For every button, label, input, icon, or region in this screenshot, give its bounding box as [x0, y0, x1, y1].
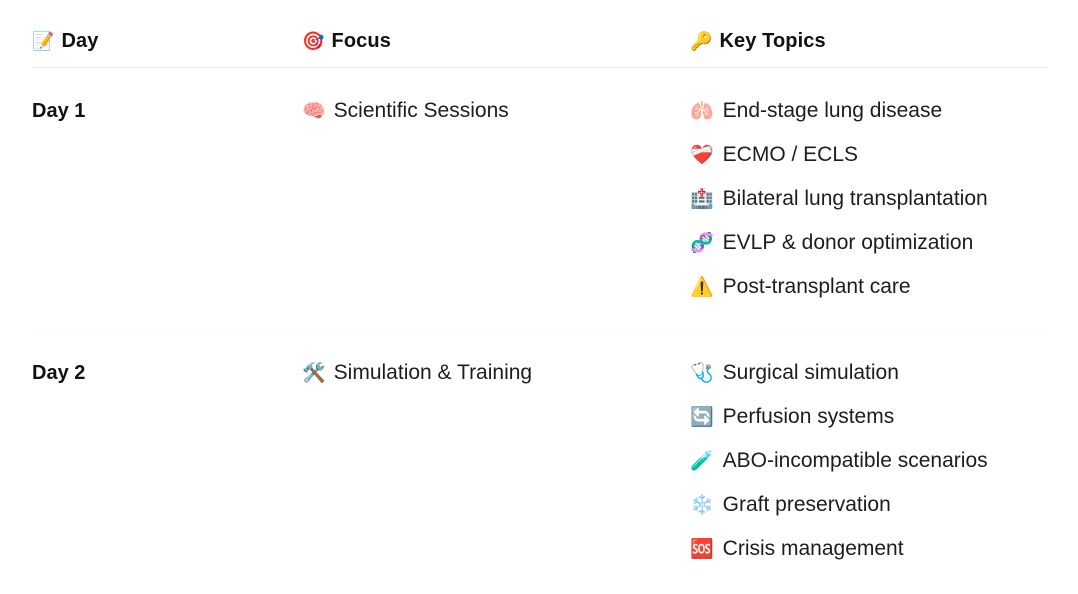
table-grid: 📝 Day 🎯 Focus 🔑 Key Topics Day 1 🧠 Scien…: [32, 0, 1048, 591]
column-header-key-topics-label: Key Topics: [720, 30, 826, 53]
topic-label: ABO-incompatible scenarios: [723, 447, 988, 475]
list-item: ❄️ Graft preservation: [690, 491, 1048, 519]
mending-heart-icon: ❤️‍🩹: [690, 141, 714, 169]
focus-label: Scientific Sessions: [334, 97, 509, 125]
memo-icon: 📝: [32, 31, 55, 53]
sos-button-icon: 🆘: [690, 535, 714, 563]
column-header-focus: 🎯 Focus: [302, 0, 690, 67]
focus-label: Simulation & Training: [334, 359, 532, 387]
counterclockwise-arrows-icon: 🔄: [690, 403, 714, 431]
topic-label: EVLP & donor optimization: [723, 229, 974, 257]
list-item: 🧪 ABO-incompatible scenarios: [690, 447, 1048, 475]
table-row-day-cell: Day 2: [32, 330, 302, 591]
list-item: 🏥 Bilateral lung transplantation: [690, 185, 1048, 213]
topic-label: Perfusion systems: [723, 403, 895, 431]
topic-label: ECMO / ECLS: [723, 141, 858, 169]
direct-hit-icon: 🎯: [302, 31, 325, 53]
warning-icon: ⚠️: [690, 273, 714, 301]
table-row-topics-cell: 🫁 End-stage lung disease ❤️‍🩹 ECMO / ECL…: [690, 68, 1048, 329]
stethoscope-icon: 🩺: [690, 359, 714, 387]
snowflake-icon: ❄️: [690, 491, 714, 519]
topic-label: Surgical simulation: [723, 359, 899, 387]
hammer-and-wrench-icon: 🛠️: [302, 359, 326, 387]
list-item: 🆘 Crisis management: [690, 535, 1048, 563]
brain-icon: 🧠: [302, 97, 326, 125]
topic-label: End-stage lung disease: [723, 97, 943, 125]
lungs-icon: 🫁: [690, 97, 714, 125]
topic-label: Graft preservation: [723, 491, 891, 519]
list-item: ⚠️ Post-transplant care: [690, 273, 1048, 301]
hospital-icon: 🏥: [690, 185, 714, 213]
column-header-day: 📝 Day: [32, 0, 302, 67]
conference-schedule-table: 📝 Day 🎯 Focus 🔑 Key Topics Day 1 🧠 Scien…: [0, 0, 1078, 591]
topic-label: Post-transplant care: [723, 273, 911, 301]
list-item: 🫁 End-stage lung disease: [690, 97, 1048, 125]
list-item: 🧬 EVLP & donor optimization: [690, 229, 1048, 257]
list-item: ❤️‍🩹 ECMO / ECLS: [690, 141, 1048, 169]
column-header-day-label: Day: [62, 30, 99, 53]
table-row-topics-cell: 🩺 Surgical simulation 🔄 Perfusion system…: [690, 330, 1048, 591]
topic-label: Bilateral lung transplantation: [723, 185, 988, 213]
key-icon: 🔑: [690, 31, 713, 53]
table-row-focus-cell: 🧠 Scientific Sessions: [302, 68, 690, 329]
list-item: 🩺 Surgical simulation: [690, 359, 1048, 387]
list-item: 🔄 Perfusion systems: [690, 403, 1048, 431]
table-row-focus-cell: 🛠️ Simulation & Training: [302, 330, 690, 591]
column-header-key-topics: 🔑 Key Topics: [690, 0, 1048, 67]
table-row-day-cell: Day 1: [32, 68, 302, 329]
topic-label: Crisis management: [723, 535, 904, 563]
dna-icon: 🧬: [690, 229, 714, 257]
column-header-focus-label: Focus: [332, 30, 391, 53]
test-tube-icon: 🧪: [690, 447, 714, 475]
